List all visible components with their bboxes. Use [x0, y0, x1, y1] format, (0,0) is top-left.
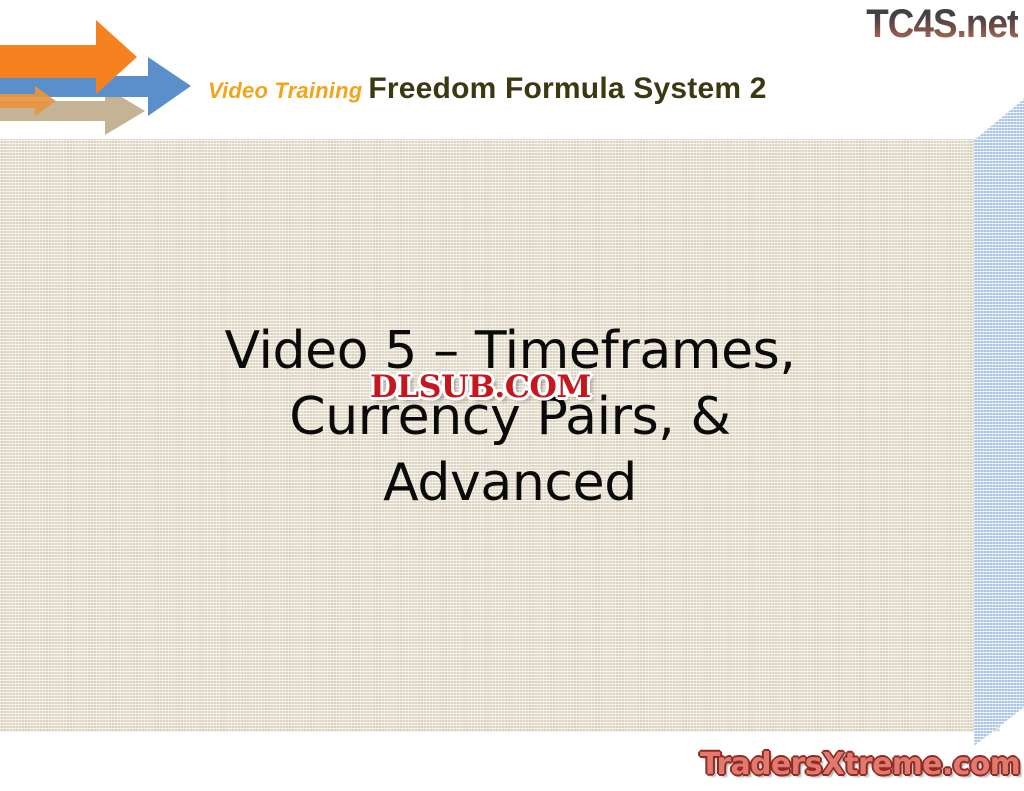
slide-canvas: Video TrainingFreedom Formula System 2 T…	[0, 0, 1024, 791]
brand-logo: TC4S.net	[866, 2, 1018, 46]
tradersxtreme-footer-logo: TradersXtreme.com	[700, 748, 1020, 782]
header-title: Video TrainingFreedom Formula System 2	[208, 74, 767, 104]
slide-main-title: Video 5 – Timeframes, Currency Pairs, & …	[110, 318, 910, 516]
header-title-main: Freedom Formula System 2	[368, 72, 766, 105]
main-title-line-3: Advanced	[110, 450, 910, 516]
header-title-prefix: Video Training	[208, 78, 362, 103]
dlsub-watermark: DLSUB.COM	[370, 370, 591, 404]
slide-header: Video TrainingFreedom Formula System 2 T…	[0, 0, 1024, 139]
three-arrows-logo-icon	[0, 8, 200, 136]
right-accent-strip	[974, 99, 1024, 746]
